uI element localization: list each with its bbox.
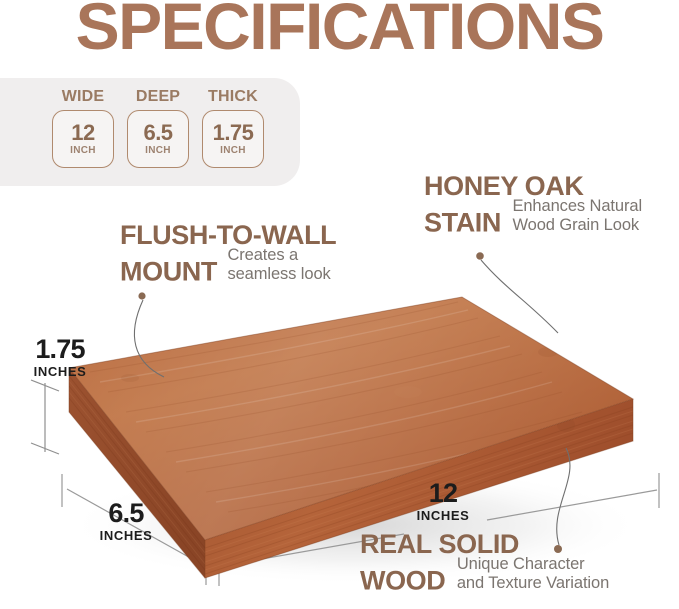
callout-wood-title-line2: WOOD [360, 565, 445, 595]
callout-flush-subtext: Creates a seamless look [227, 246, 330, 286]
callout-flush-to-wall-mount: FLUSH-TO-WALL MOUNT Creates a seamless l… [120, 222, 420, 286]
callout-stain-sub-line1: Enhances Natural [512, 197, 642, 215]
dimension-line-thickness [31, 380, 59, 454]
leader-dot-stain [476, 252, 484, 260]
leader-dot-flush [138, 292, 145, 299]
callout-real-solid-wood: REAL SOLID WOOD Unique Character and Tex… [360, 531, 679, 595]
callout-stain-title-line2: STAIN [424, 207, 501, 237]
callout-honey-oak-stain: HONEY OAK STAIN Enhances Natural Wood Gr… [424, 173, 679, 237]
dimension-width-value: 12 [408, 480, 478, 507]
callout-stain-subtext: Enhances Natural Wood Grain Look [512, 197, 642, 237]
dimension-label-width: 12 INCHES [408, 480, 478, 522]
dimension-label-depth: 6.5 INCHES [86, 500, 166, 542]
callout-flush-title-line2: MOUNT [120, 256, 217, 286]
callout-wood-sub-line2: and Texture Variation [457, 574, 609, 592]
callout-flush-sub-line1: Creates a [227, 246, 298, 264]
callout-stain-sub-line2: Wood Grain Look [512, 216, 639, 234]
dimension-depth-unit: INCHES [86, 529, 166, 542]
dimension-thickness-unit: INCHES [22, 365, 98, 378]
callout-wood-subtext: Unique Character and Texture Variation [457, 555, 609, 595]
dimension-thickness-value: 1.75 [22, 336, 98, 363]
dimension-label-thickness: 1.75 INCHES [22, 336, 98, 378]
callout-flush-sub-line2: seamless look [227, 265, 330, 283]
callout-wood-sub-line1: Unique Character [457, 555, 585, 573]
dimension-width-unit: INCHES [408, 509, 478, 522]
specifications-infographic: SPECIFICATIONS WIDE 12 INCH DEEP 6.5 INC… [0, 0, 679, 609]
dimension-depth-value: 6.5 [86, 500, 166, 527]
